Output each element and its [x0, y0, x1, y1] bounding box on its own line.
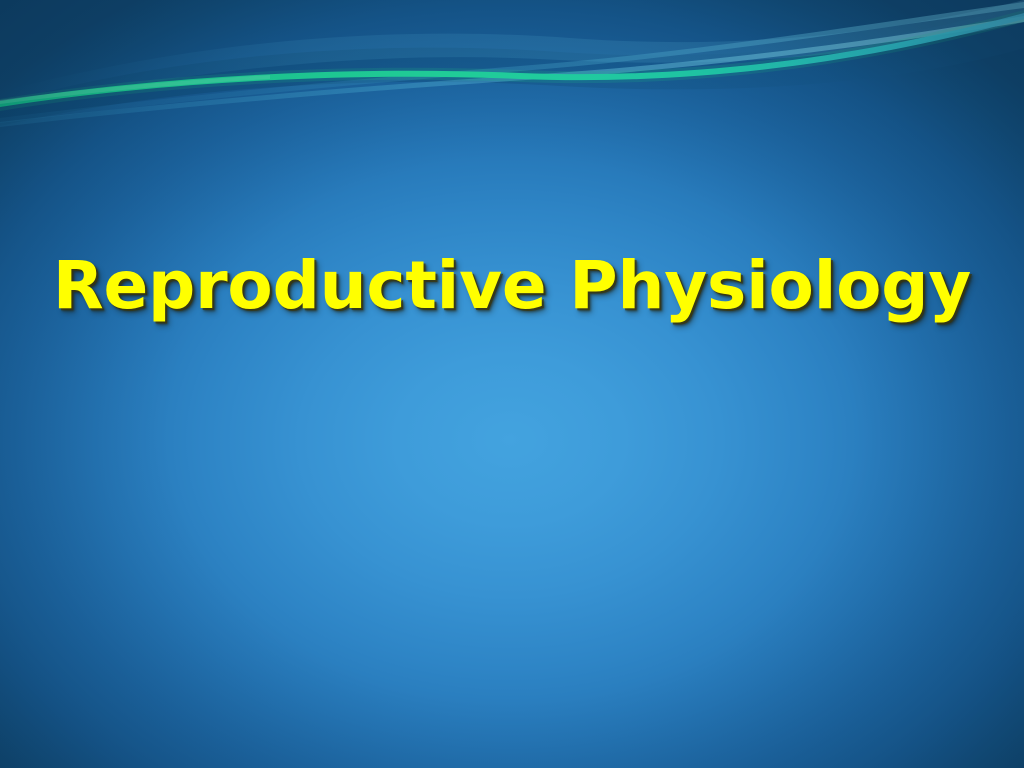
wave-cyan-band-lower — [0, 16, 1024, 127]
presentation-slide: Reproductive Physiology — [0, 0, 1024, 768]
background-vignette — [0, 0, 1024, 768]
wave-green-ribbon — [0, 13, 1024, 107]
slide-title: Reproductive Physiology — [53, 248, 971, 325]
wave-shadow-band — [0, 4, 1024, 126]
wave-ribbon-graphic — [0, 0, 1024, 150]
top-wave-decoration — [0, 0, 1024, 150]
wave-ribbon-highlight — [0, 75, 270, 104]
wave-cyan-band-upper — [0, 2, 1024, 123]
wave-light-band — [0, 0, 1024, 112]
title-block: Reproductive Physiology — [0, 248, 1024, 325]
wave-green-glow — [0, 10, 1024, 111]
